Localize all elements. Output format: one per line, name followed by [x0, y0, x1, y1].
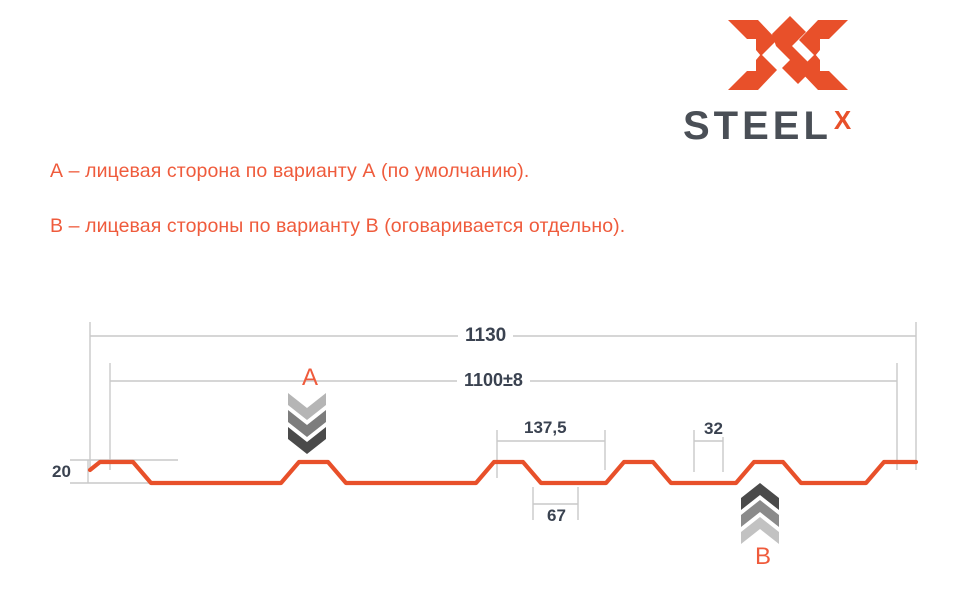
extension-lines [70, 322, 916, 520]
dimension-lines [88, 336, 916, 504]
dimension-rib-height: 20 [49, 463, 74, 480]
dimension-rib-top-width: 32 [700, 420, 727, 437]
dimension-overall-width: 1130 [458, 326, 513, 345]
technical-drawing [0, 0, 970, 597]
dimension-valley-width: 67 [543, 507, 570, 524]
dimension-rib-pitch: 137,5 [519, 419, 572, 436]
marker-b-chevrons [741, 483, 779, 544]
marker-b-label: B [755, 545, 771, 569]
marker-a-chevrons [288, 393, 326, 454]
marker-a-label: A [302, 366, 318, 390]
sheet-profile-path [90, 462, 916, 483]
dimension-useful-width: 1100±8 [457, 371, 530, 389]
profile-drawing-page: STEEL X А – лицевая сторона по варианту … [0, 0, 970, 597]
